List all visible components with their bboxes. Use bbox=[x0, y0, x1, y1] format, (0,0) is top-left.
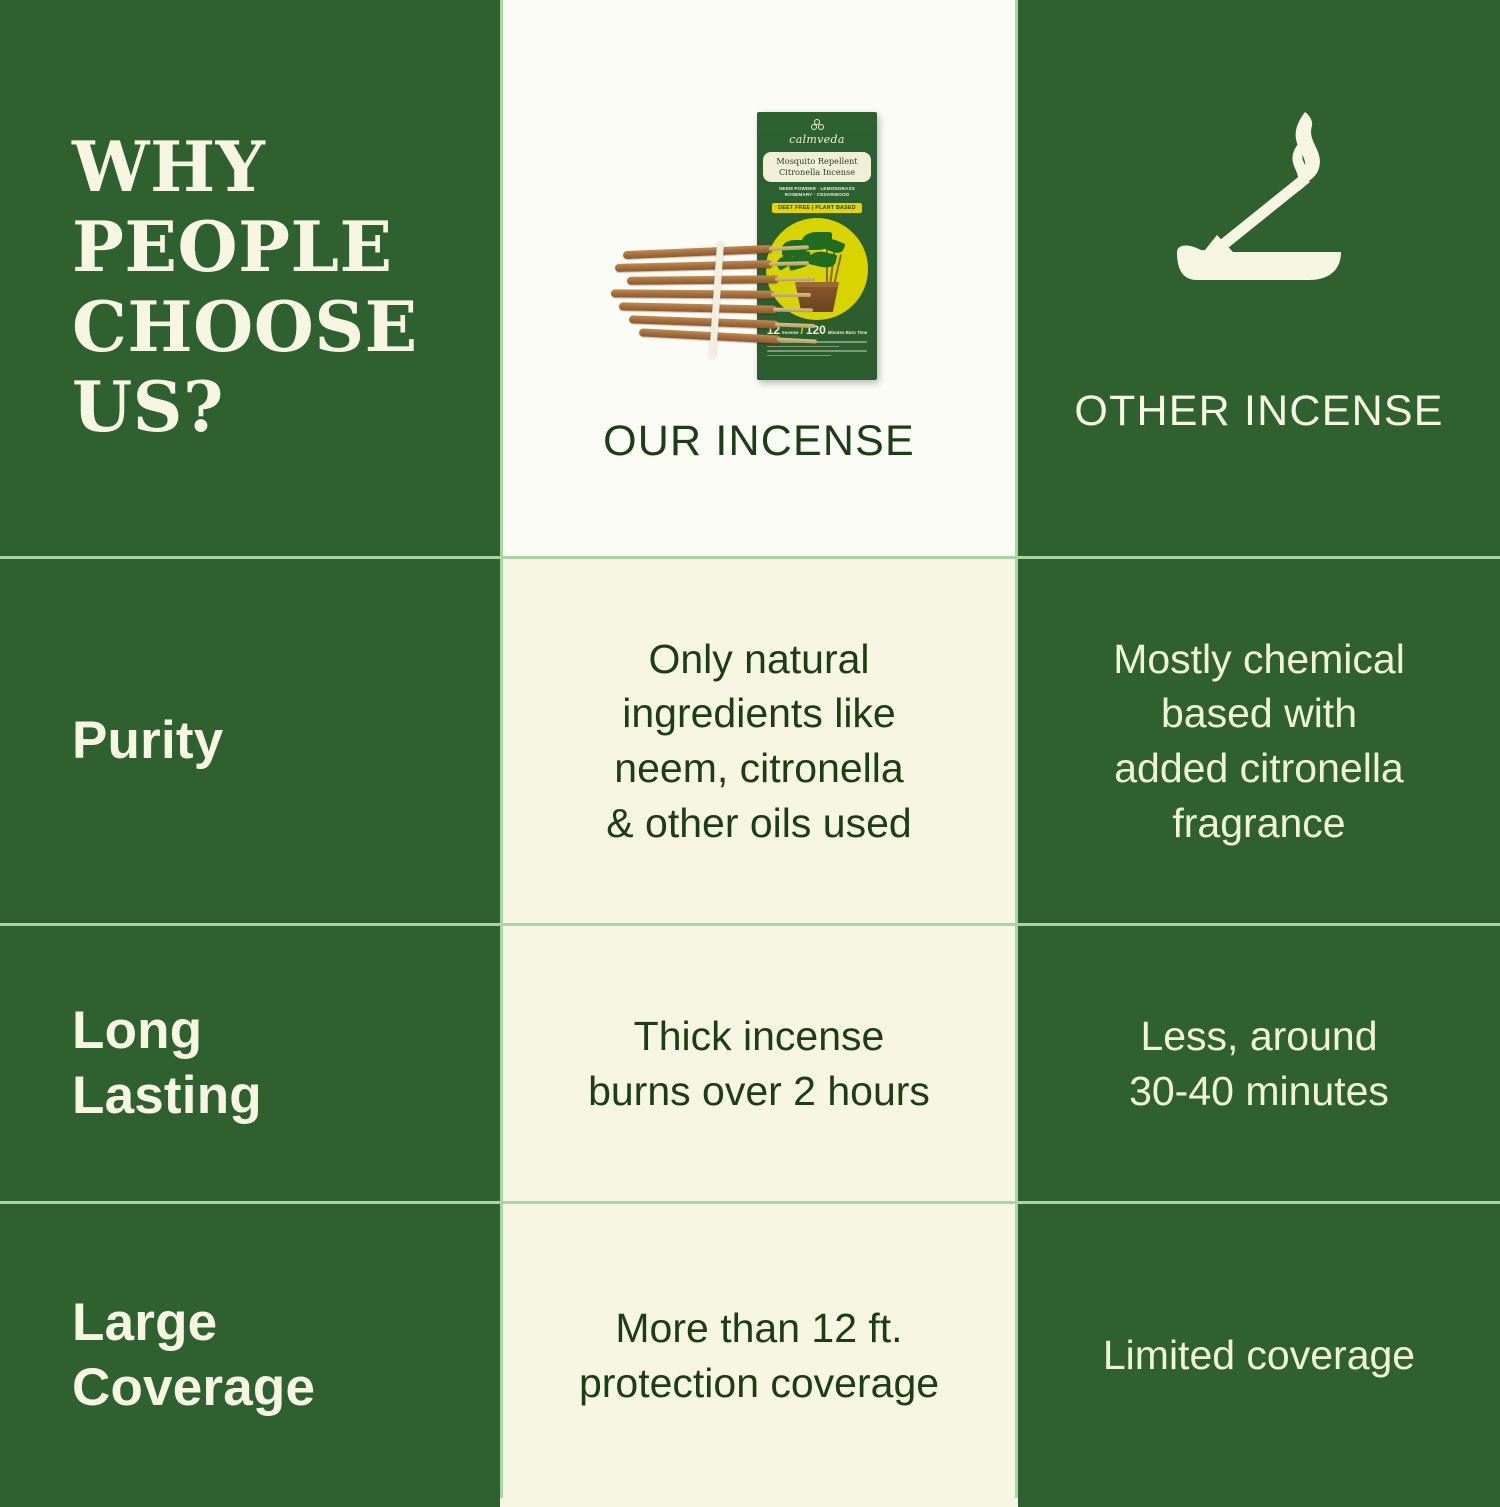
row-label-cell-purity: Purity bbox=[0, 559, 500, 923]
incense-stick-bundle bbox=[609, 246, 857, 356]
row-ours-cell-long-lasting: Thick incense burns over 2 hours bbox=[500, 926, 1018, 1201]
row-other-cell-long-lasting: Less, around 30-40 minutes bbox=[1018, 926, 1500, 1201]
comparison-table: WHY PEOPLE CHOOSE US? calmveda Mosquito … bbox=[0, 0, 1500, 1498]
row-ours-text-large-coverage: More than 12 ft. protection coverage bbox=[579, 1301, 939, 1410]
row-label-large-coverage: Large Coverage bbox=[72, 1291, 315, 1420]
row-other-cell-purity: Mostly chemical based with added citrone… bbox=[1018, 559, 1500, 923]
package-badge: DEET FREE | PLANT BASED bbox=[772, 203, 862, 213]
our-incense-header: OUR INCENSE bbox=[603, 420, 915, 463]
our-incense-header-cell: calmveda Mosquito Repellent Citronella I… bbox=[500, 0, 1018, 556]
package-ingredients-line2: ROSEMARY · CEDARWOOD bbox=[779, 192, 855, 199]
row-ours-text-long-lasting: Thick incense burns over 2 hours bbox=[588, 1009, 930, 1118]
page-title-cell: WHY PEOPLE CHOOSE US? bbox=[0, 0, 500, 556]
package-title-line2: Citronella Incense bbox=[765, 167, 869, 178]
calmveda-logo-icon bbox=[811, 119, 824, 131]
row-ours-text-purity: Only natural ingredients like neem, citr… bbox=[606, 632, 911, 850]
other-incense-header-cell: OTHER INCENSE bbox=[1018, 0, 1500, 556]
other-incense-header: OTHER INCENSE bbox=[1074, 390, 1443, 433]
row-label-purity: Purity bbox=[72, 709, 223, 774]
row-label-cell-large-coverage: Large Coverage bbox=[0, 1204, 500, 1507]
package-ingredients: NEEM POWDER · LEMONGRASS ROSEMARY · CEDA… bbox=[779, 186, 855, 199]
page-title: WHY PEOPLE CHOOSE US? bbox=[72, 128, 500, 448]
row-other-text-long-lasting: Less, around 30-40 minutes bbox=[1129, 1009, 1389, 1118]
package-ingredients-line1: NEEM POWDER · LEMONGRASS bbox=[779, 186, 855, 193]
package-brand: calmveda bbox=[789, 133, 844, 146]
package-title: Mosquito Repellent Citronella Incense bbox=[763, 152, 871, 182]
package-title-line1: Mosquito Repellent bbox=[765, 156, 869, 167]
product-photo: calmveda Mosquito Repellent Citronella I… bbox=[609, 96, 909, 386]
row-other-cell-large-coverage: Limited coverage bbox=[1018, 1204, 1500, 1507]
row-label-cell-long-lasting: Long Lasting bbox=[0, 926, 500, 1201]
row-other-text-large-coverage: Limited coverage bbox=[1103, 1328, 1415, 1383]
row-other-text-purity: Mostly chemical based with added citrone… bbox=[1113, 632, 1405, 850]
row-label-long-lasting: Long Lasting bbox=[72, 999, 262, 1128]
incense-burner-icon bbox=[1109, 100, 1409, 350]
row-ours-cell-large-coverage: More than 12 ft. protection coverage bbox=[500, 1204, 1018, 1507]
row-ours-cell-purity: Only natural ingredients like neem, citr… bbox=[500, 559, 1018, 923]
